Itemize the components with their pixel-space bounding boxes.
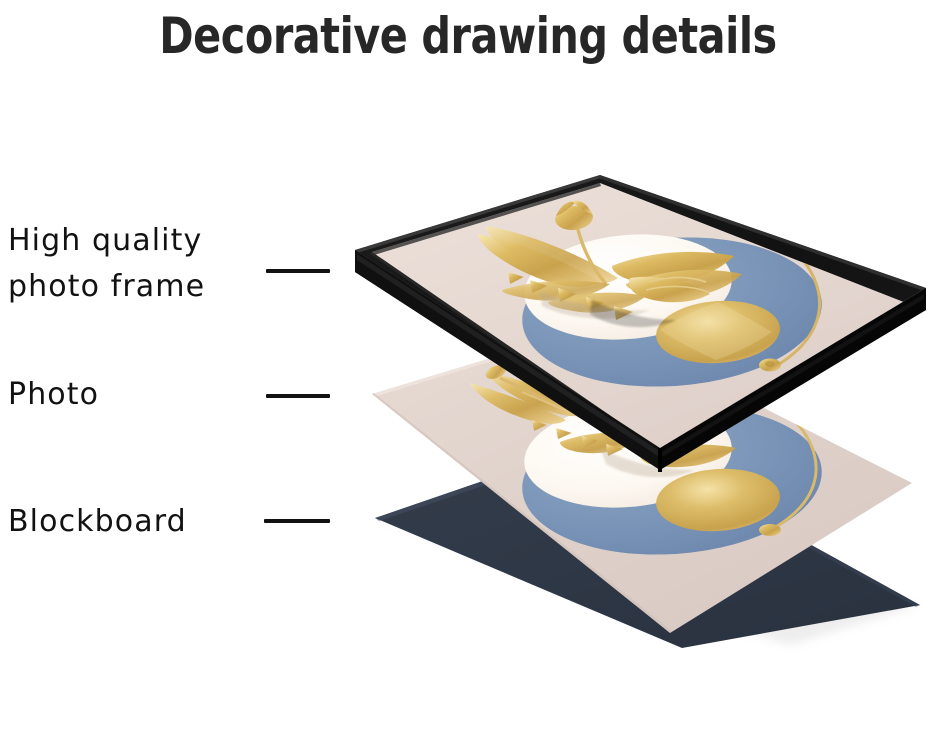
callout-label-blockboard: Blockboard (8, 499, 187, 545)
artwork-gold-arc (774, 416, 816, 528)
photo-layer (372, 325, 912, 633)
diagram-canvas: Decorative drawing details (0, 0, 936, 751)
frame-artwork-area (372, 183, 914, 458)
artwork-gold-disc (654, 465, 782, 535)
artwork-blue-circle (517, 396, 827, 565)
artwork-cream-circle (520, 394, 736, 516)
callout-leader-line-photo (266, 394, 330, 398)
frame-face (355, 175, 926, 448)
callout-label-high-quality-photo-frame: High quality photo frame (8, 218, 205, 310)
callout-leader-line-blockboard (264, 519, 330, 523)
callout-label-photo: Photo (8, 372, 99, 418)
artwork-gold-bead (759, 524, 781, 536)
artwork-gold-botanical (470, 362, 736, 467)
callout-leader-line-high-quality-photo-frame (266, 269, 330, 273)
blockboard-layer (375, 436, 920, 648)
exploded-view-diagram (0, 0, 936, 751)
photo-frame-layer (355, 175, 926, 492)
framed-artwork (478, 201, 827, 397)
page-title: Decorative drawing details (37, 6, 898, 66)
